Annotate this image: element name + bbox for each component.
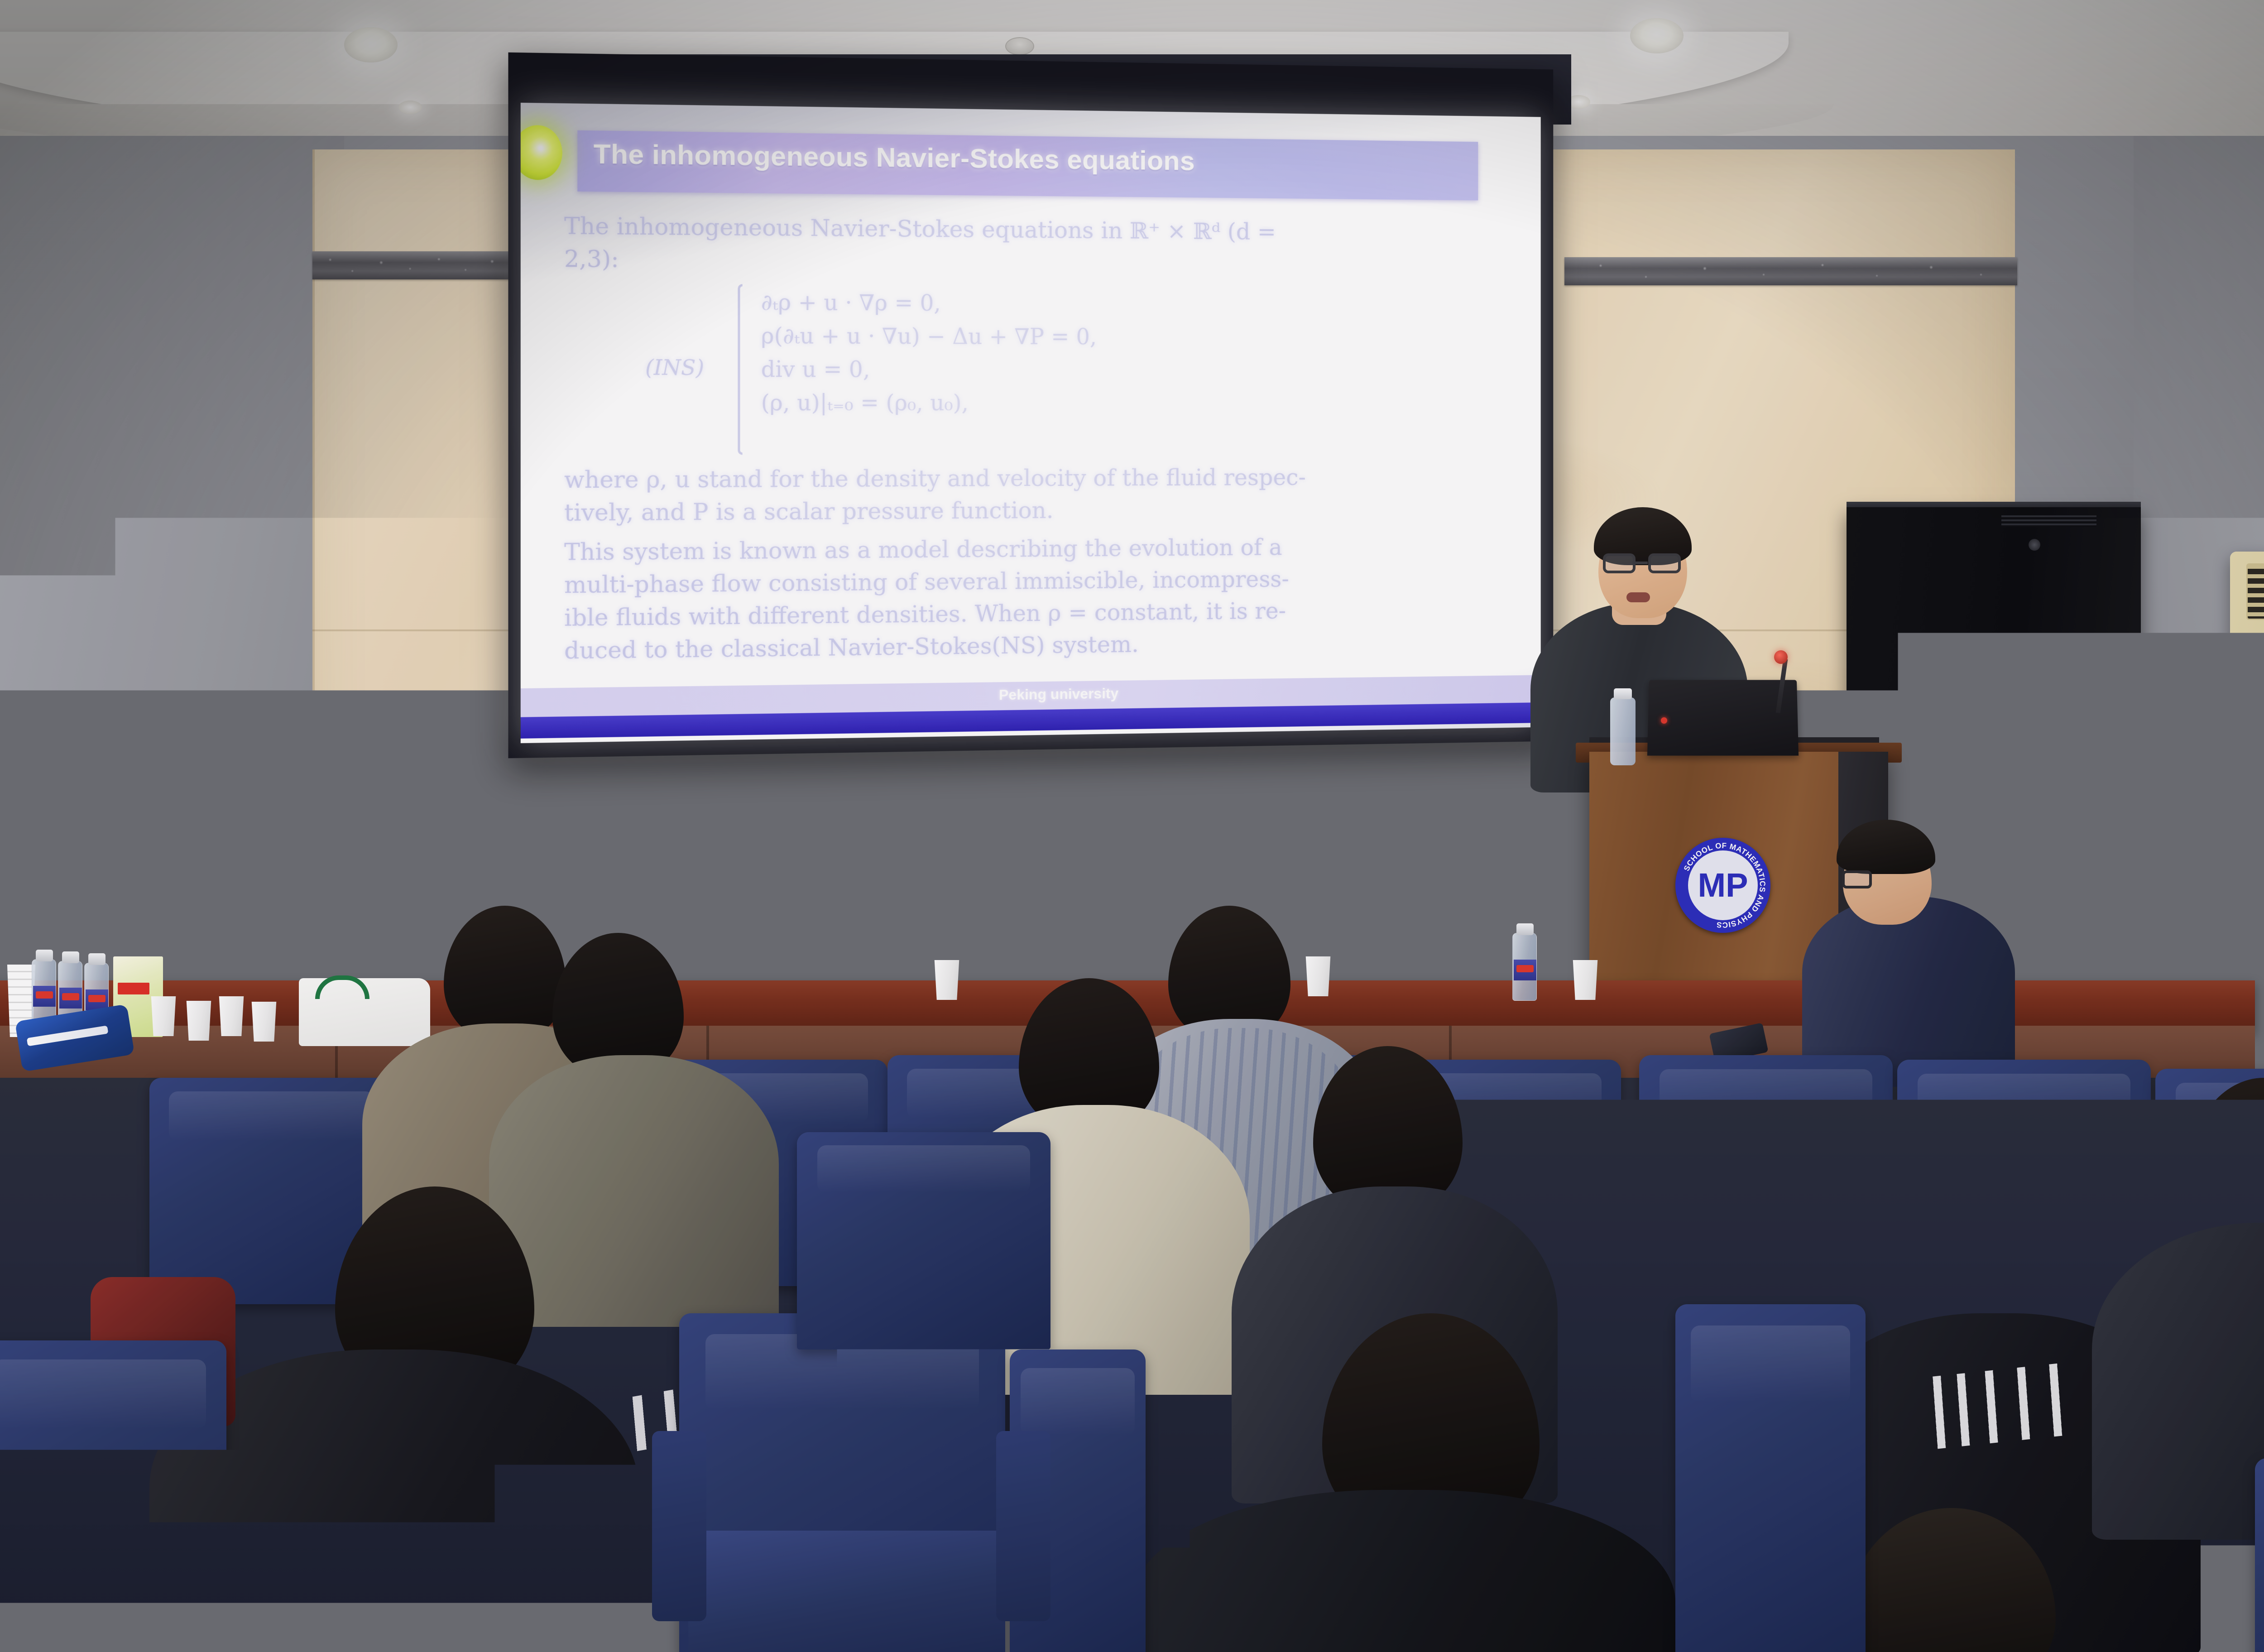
presenter-laptop[interactable] [1647, 680, 1799, 755]
ceiling-downlight [344, 27, 398, 62]
laptop-power-led-icon [1661, 717, 1667, 724]
speaker-mouth [1626, 592, 1650, 602]
equation-block: (INS) ∂ₜρ + u · ∇ρ = 0, ρ(∂ₜu + u · ∇u) … [564, 283, 1453, 459]
tote-bag [299, 978, 430, 1046]
presentation-slide: The inhomogeneous Navier-Stokes equation… [521, 103, 1541, 743]
lecture-hall-photo: The inhomogeneous Navier-Stokes equation… [0, 0, 2264, 1652]
slide-intro-line-1: The inhomogeneous Navier-Stokes equation… [564, 210, 1453, 249]
slide-para1-line-2: tively, and P is a scalar pressure funct… [564, 493, 1453, 529]
projector-screen: The inhomogeneous Navier-Stokes equation… [508, 53, 1553, 759]
equation-line-1: ∂ₜρ + u · ∇ρ = 0, [761, 286, 1097, 321]
seat[interactable] [0, 1340, 226, 1652]
air-conditioner [2230, 552, 2264, 1043]
seat[interactable] [797, 1132, 1050, 1349]
slide-title: The inhomogeneous Navier-Stokes equation… [594, 138, 1195, 177]
seat-armrest[interactable] [652, 1431, 706, 1621]
speaker-glasses-left-lens [1603, 553, 1636, 573]
equation-brace [738, 284, 742, 455]
bottle-cap [1516, 923, 1534, 935]
ceiling-downlight [1630, 18, 1684, 53]
equation-line-4: (ρ, u)|ₜ₌₀ = (ρ₀, u₀), [761, 386, 1097, 420]
av-rack-lock-icon[interactable] [2029, 539, 2040, 551]
equation-line-2: ρ(∂ₜu + u · ∇u) − Δu + ∇P = 0, [761, 319, 1097, 354]
equation-lines: ∂ₜρ + u · ∇ρ = 0, ρ(∂ₜu + u · ∇u) − Δu +… [761, 286, 1097, 420]
bottle-cap [1614, 688, 1632, 699]
slide-intro-line-2: 2,3): [564, 243, 1453, 281]
bottle-label [59, 988, 82, 1008]
speaker-glasses-bridge [1632, 562, 1648, 564]
paper-cup [250, 1002, 278, 1042]
wall-seam [0, 910, 344, 912]
paper-cup [1571, 960, 1599, 1000]
bottle-cap [88, 953, 106, 965]
av-rack-vent [2001, 515, 2096, 527]
bottle-label-badge [62, 993, 79, 1000]
slide-para1-line-1: where ρ, u stand for the density and vel… [564, 461, 1453, 497]
microphone-head-icon [1774, 650, 1788, 664]
bottle-label-badge [36, 991, 53, 999]
air-conditioner-grille [2246, 563, 2264, 620]
equation-label: (INS) [645, 353, 704, 383]
school-logo-ring: SCHOOL OF MATHEMATICS AND PHYSICS [1675, 838, 1770, 933]
bottle-label [1514, 960, 1536, 980]
school-logo-ring-text: SCHOOL OF MATHEMATICS AND PHYSICS [1682, 841, 1767, 929]
speaker-glasses-right-lens [1648, 553, 1681, 573]
water-bottle [1512, 933, 1537, 1001]
seat-armrest[interactable] [996, 1431, 1050, 1621]
paper-cup [933, 960, 961, 1000]
tea-box-logo [118, 983, 149, 994]
bottle-label-badge [1516, 965, 1534, 972]
paper-cup [185, 1001, 213, 1041]
presenter-water-bottle [1610, 697, 1636, 765]
granite-accent-band [1564, 257, 2017, 285]
back-wall-left-return [0, 136, 344, 1042]
tote-bag-handle [315, 975, 369, 999]
seat-cushion[interactable] [688, 1531, 1005, 1652]
ceiling-smoke-detector [1005, 37, 1034, 55]
paper-cup [217, 996, 245, 1036]
laser-pointer-dot-icon [521, 125, 562, 180]
paper-cup [1304, 956, 1332, 996]
seat[interactable] [2255, 1458, 2264, 1652]
seat[interactable] [1567, 1159, 1802, 1395]
ceiling-spotlight [398, 101, 422, 114]
equation-line-3: div u = 0, [761, 353, 1097, 387]
bottle-label-badge [88, 995, 106, 1002]
slide-footer-label: Peking university [999, 685, 1118, 704]
slide-title-bar: The inhomogeneous Navier-Stokes equation… [577, 130, 1478, 201]
slide-body: The inhomogeneous Navier-Stokes equation… [564, 210, 1453, 667]
granite-accent-band [312, 251, 534, 279]
bottle-label [33, 986, 56, 1007]
bottle-cap [62, 951, 79, 963]
snack-bag-stripe [27, 1025, 109, 1046]
bottle-cap [36, 950, 53, 961]
school-logo: SCHOOL OF MATHEMATICS AND PHYSICS MP [1675, 838, 1770, 933]
attendee-glasses [1842, 870, 1872, 888]
paper-cup [149, 996, 177, 1036]
